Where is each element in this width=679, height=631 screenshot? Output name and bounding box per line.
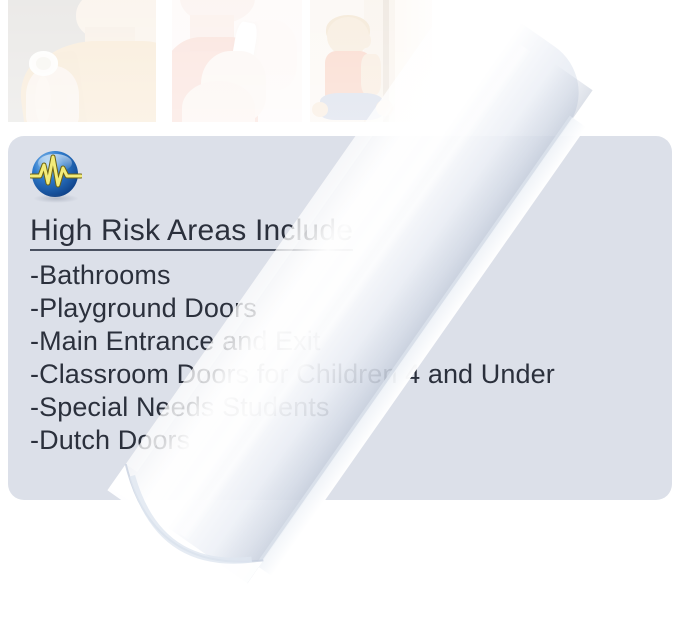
- list-item: -Playground Doors: [30, 292, 660, 325]
- list-item: -Bathrooms: [30, 259, 660, 292]
- child-holding-hand-photo: [8, 0, 156, 122]
- list-item: -Special Needs Students: [30, 391, 660, 424]
- risk-area-list: -Bathrooms -Playground Doors -Main Entra…: [30, 259, 660, 457]
- child-hands-with-guard-photo: [172, 0, 302, 122]
- list-item: -Dutch Doors: [30, 424, 660, 457]
- toddler-at-door-hinge-photo: [310, 0, 432, 122]
- list-item: -Main Entrance and Exit: [30, 325, 660, 358]
- waveform-globe-icon: [30, 150, 82, 202]
- panel-heading: High Risk Areas Include: [30, 214, 353, 251]
- info-panel: High Risk Areas Include -Bathrooms -Play…: [8, 136, 672, 500]
- photo-right-fade: [400, 0, 679, 124]
- risk-area-content: High Risk Areas Include -Bathrooms -Play…: [30, 214, 660, 457]
- product-infographic: High Risk Areas Include -Bathrooms -Play…: [0, 0, 679, 631]
- photo-strip: [0, 0, 679, 124]
- list-item: -Classroom Doors for Children 4 and Unde…: [30, 358, 660, 391]
